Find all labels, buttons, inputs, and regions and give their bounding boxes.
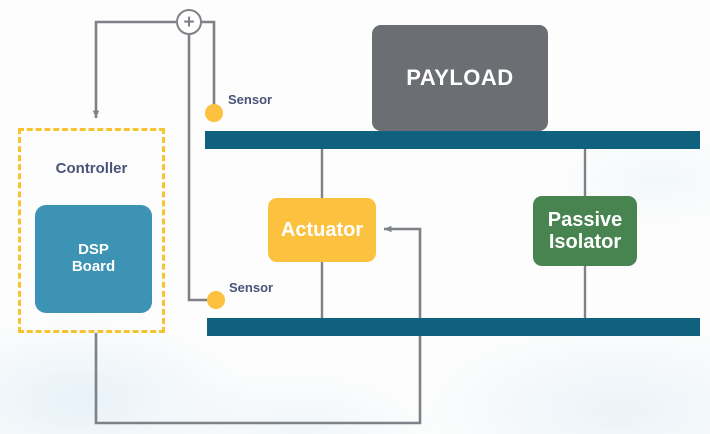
wire-sensor-bottom-to-sum (189, 35, 207, 300)
sensor-label-bottom: Sensor (229, 280, 273, 295)
base-structure-bar (207, 318, 700, 336)
passive-isolator-block[interactable]: Passive Isolator (533, 196, 637, 266)
payload-label: PAYLOAD (406, 66, 513, 91)
actuator-block[interactable]: Actuator (268, 198, 376, 262)
passive-isolator-label-line2: Isolator (549, 231, 621, 253)
payload-block[interactable]: PAYLOAD (372, 25, 548, 131)
wire-sum-to-controller (96, 22, 176, 118)
actuator-label: Actuator (281, 219, 363, 241)
controller-label: Controller (18, 160, 165, 177)
payload-platform-bar (205, 131, 700, 149)
summing-junction-plus-symbol: + (176, 9, 202, 35)
diagram-canvas: PAYLOAD Actuator Passive Isolator Contro… (0, 0, 710, 434)
passive-isolator-label-line1: Passive (548, 209, 623, 231)
sensor-dot-icon-top[interactable] (205, 104, 223, 122)
dsp-board-label-line2: Board (72, 259, 115, 276)
wire-sensor-top-to-sum (202, 22, 214, 107)
sensor-dot-icon-bottom[interactable] (207, 291, 225, 309)
dsp-board-label-line1: DSP (78, 242, 109, 259)
sensor-label-top: Sensor (228, 92, 272, 107)
dsp-board-block[interactable]: DSP Board (35, 205, 152, 313)
